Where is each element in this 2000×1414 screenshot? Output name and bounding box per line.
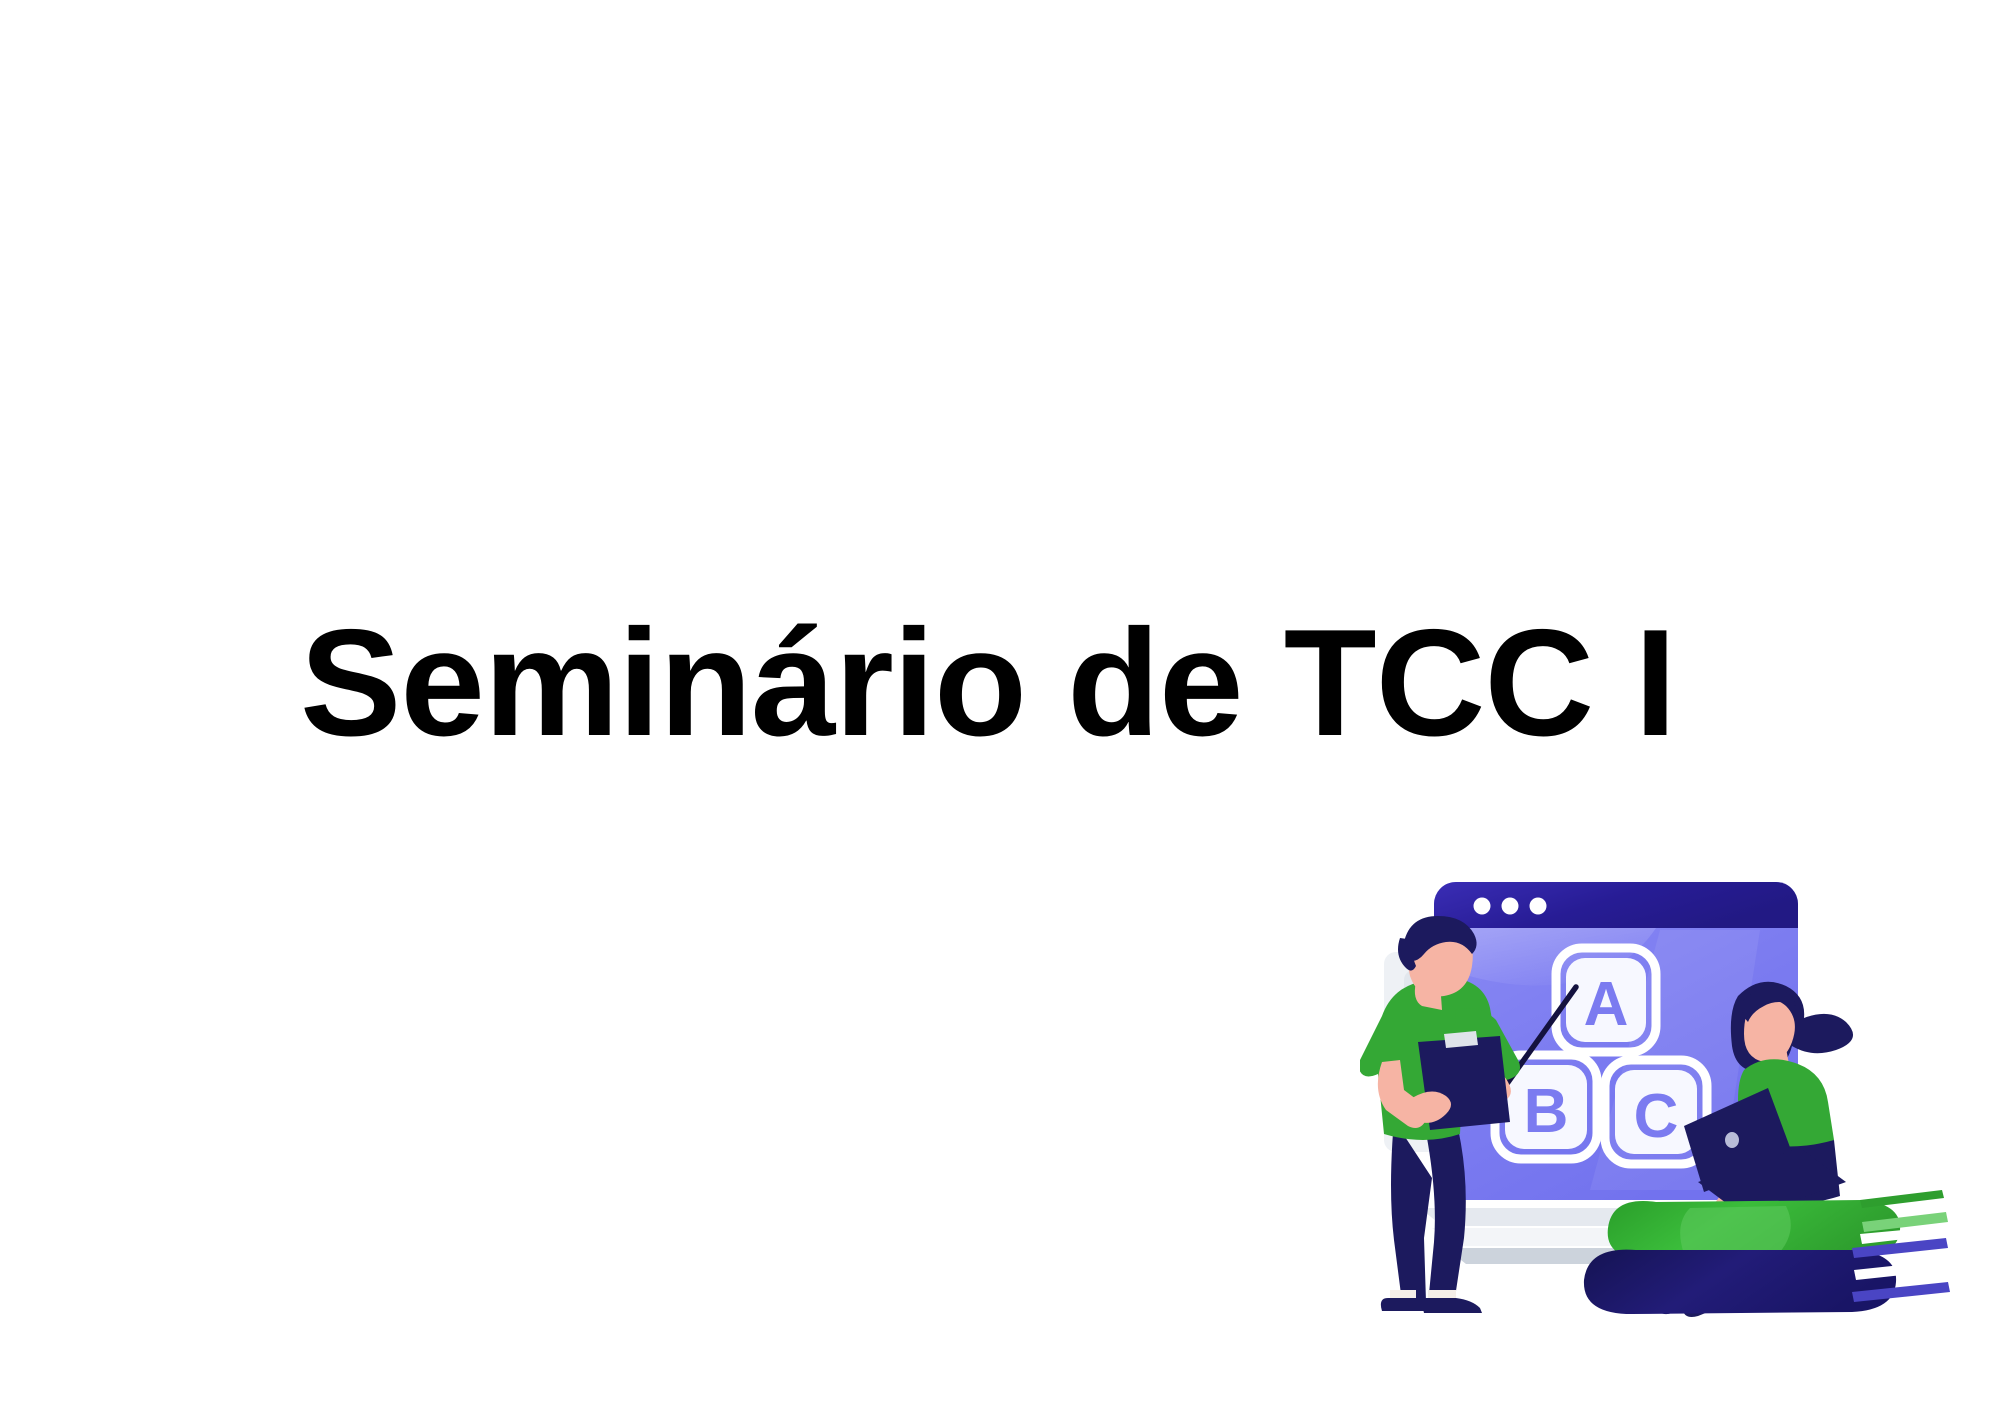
book-stack: [1584, 1190, 1950, 1314]
svg-text:C: C: [1634, 1082, 1679, 1151]
page-title: Seminário de TCC I: [300, 607, 1720, 759]
titlebar-dots: [1474, 898, 1547, 915]
classroom-illustration: A B C: [1360, 830, 1960, 1360]
svg-text:B: B: [1524, 1077, 1569, 1146]
presentation-slide: Seminário de TCC I: [0, 0, 2000, 1414]
svg-text:A: A: [1584, 970, 1629, 1039]
